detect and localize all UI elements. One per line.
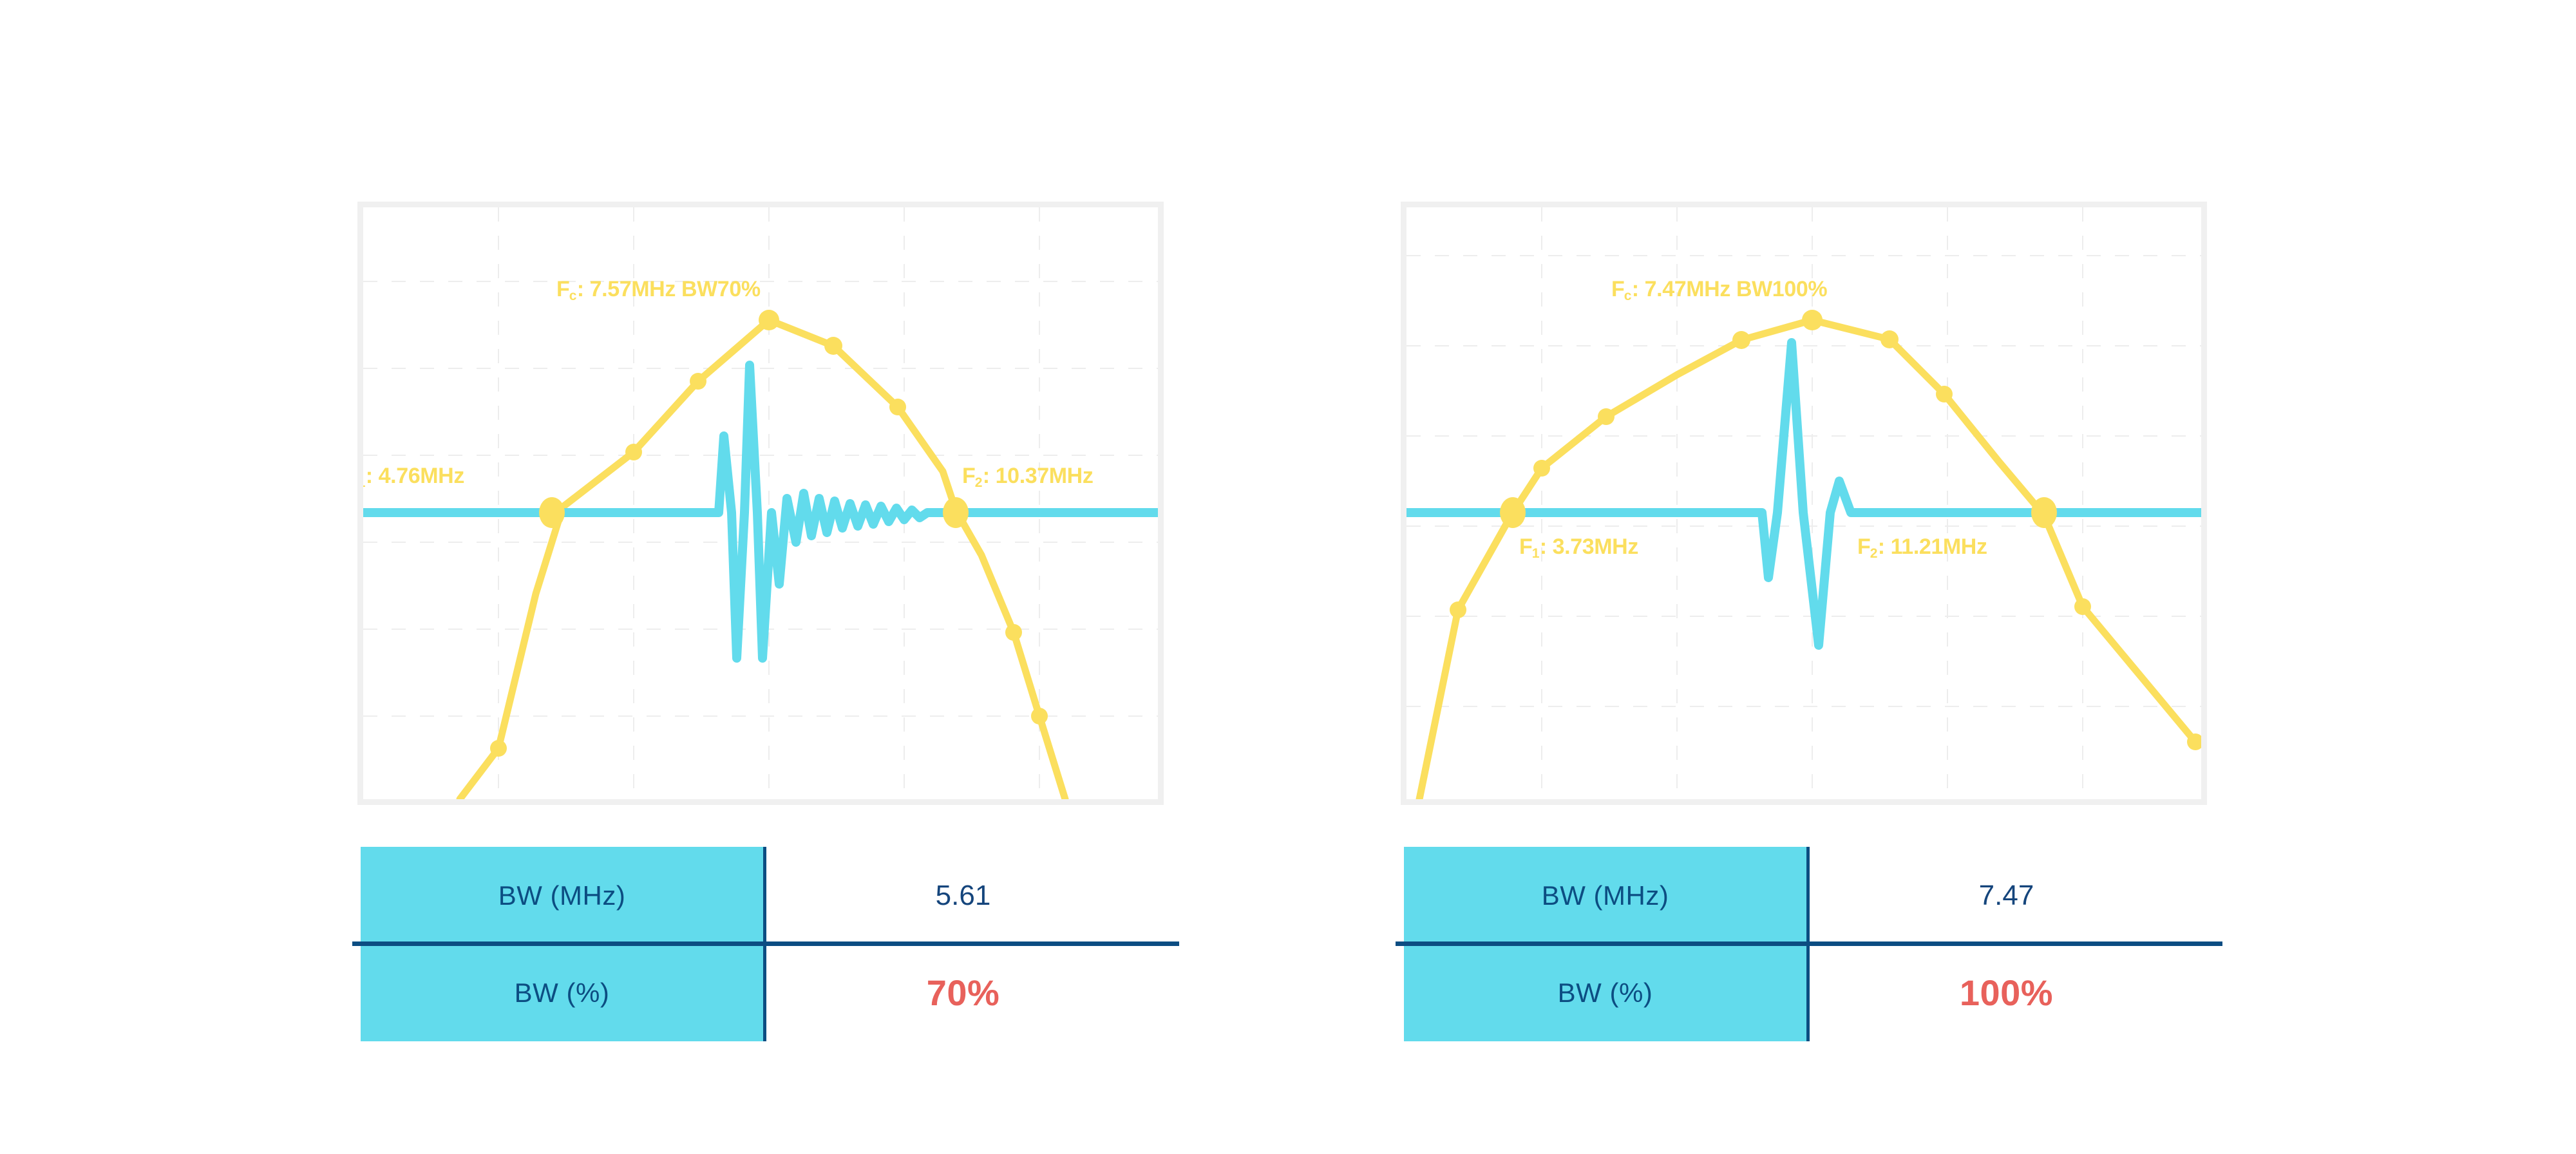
annotation-lower-frequency: F1: 4.76MHz [363,465,464,487]
table-header-cell-bw-pct: BW (%) [1404,944,1806,1041]
f1-value: : 3.73MHz [1540,534,1638,559]
table-row-divider [1396,941,2222,946]
table-value-cell-bw-pct: 100% [1806,944,2206,1041]
annotation-center-frequency: Fc: 7.47MHz BW100% [1611,278,1827,300]
table-header-cell-bw-mhz: BW (MHz) [361,847,763,944]
f2-marker [943,497,969,528]
bandwidth-panel-right: Fc: 7.47MHz BW100% F1: 3.73MHz F2: 11.21… [1043,0,2331,1154]
spectrum-chart-right: Fc: 7.47MHz BW100% F1: 3.73MHz F2: 11.21… [1401,202,2207,805]
fc-value: : 7.57MHz BW70% [577,277,761,301]
table-value-label: 70% [927,972,1000,1014]
fc-prefix: F [1611,277,1624,301]
f1-prefix: F [1519,534,1532,559]
fc-value: : 7.47MHz BW100% [1632,277,1827,301]
annotation-lower-frequency: F1: 3.73MHz [1519,536,1638,558]
table-value-label: 7.47 [1979,880,2034,912]
table-value-label: 5.61 [936,880,991,912]
table-header-label: BW (%) [1558,978,1653,1008]
table-row: BW (MHz) 7.47 [1404,847,2206,944]
chart-plot-area-left: Fc: 7.57MHz BW70% F1: 4.76MHz F2: 10.37M… [363,207,1158,799]
table-header-label: BW (MHz) [498,880,626,911]
chart-plot-area-right: Fc: 7.47MHz BW100% F1: 3.73MHz F2: 11.21… [1406,207,2201,799]
table-value-label: 100% [1960,972,2053,1014]
f1-marker [539,497,565,528]
f2-subscript: 2 [975,475,982,490]
table-row: BW (%) 100% [1404,944,2206,1041]
annotation-center-frequency: Fc: 7.57MHz BW70% [556,278,761,300]
table-header-cell-bw-pct: BW (%) [361,944,763,1041]
fc-subscript: c [1624,288,1631,303]
waveform-trace [363,365,1158,658]
f2-prefix: F [1857,534,1870,559]
f1-subscript: 1 [1532,546,1539,561]
fc-subscript: c [569,288,576,303]
fc-prefix: F [556,277,569,301]
f1-subscript: 1 [363,475,365,490]
f2-marker [2031,497,2057,528]
f2-value: : 11.21MHz [1878,534,1987,559]
f2-prefix: F [962,464,975,488]
f1-marker [1500,497,1526,528]
bandwidth-table-right: BW (MHz) 7.47 BW (%) 100% [1404,847,2206,1041]
table-header-label: BW (%) [515,978,610,1008]
f2-subscript: 2 [1870,546,1877,561]
table-header-label: BW (MHz) [1542,880,1669,911]
spectrum-plot-svg-left [363,207,1158,799]
annotation-upper-frequency: F2: 11.21MHz [1857,536,1987,558]
f1-value: : 4.76MHz [366,464,464,488]
table-header-cell-bw-mhz: BW (MHz) [1404,847,1806,944]
table-value-cell-bw-mhz: 7.47 [1806,847,2206,944]
